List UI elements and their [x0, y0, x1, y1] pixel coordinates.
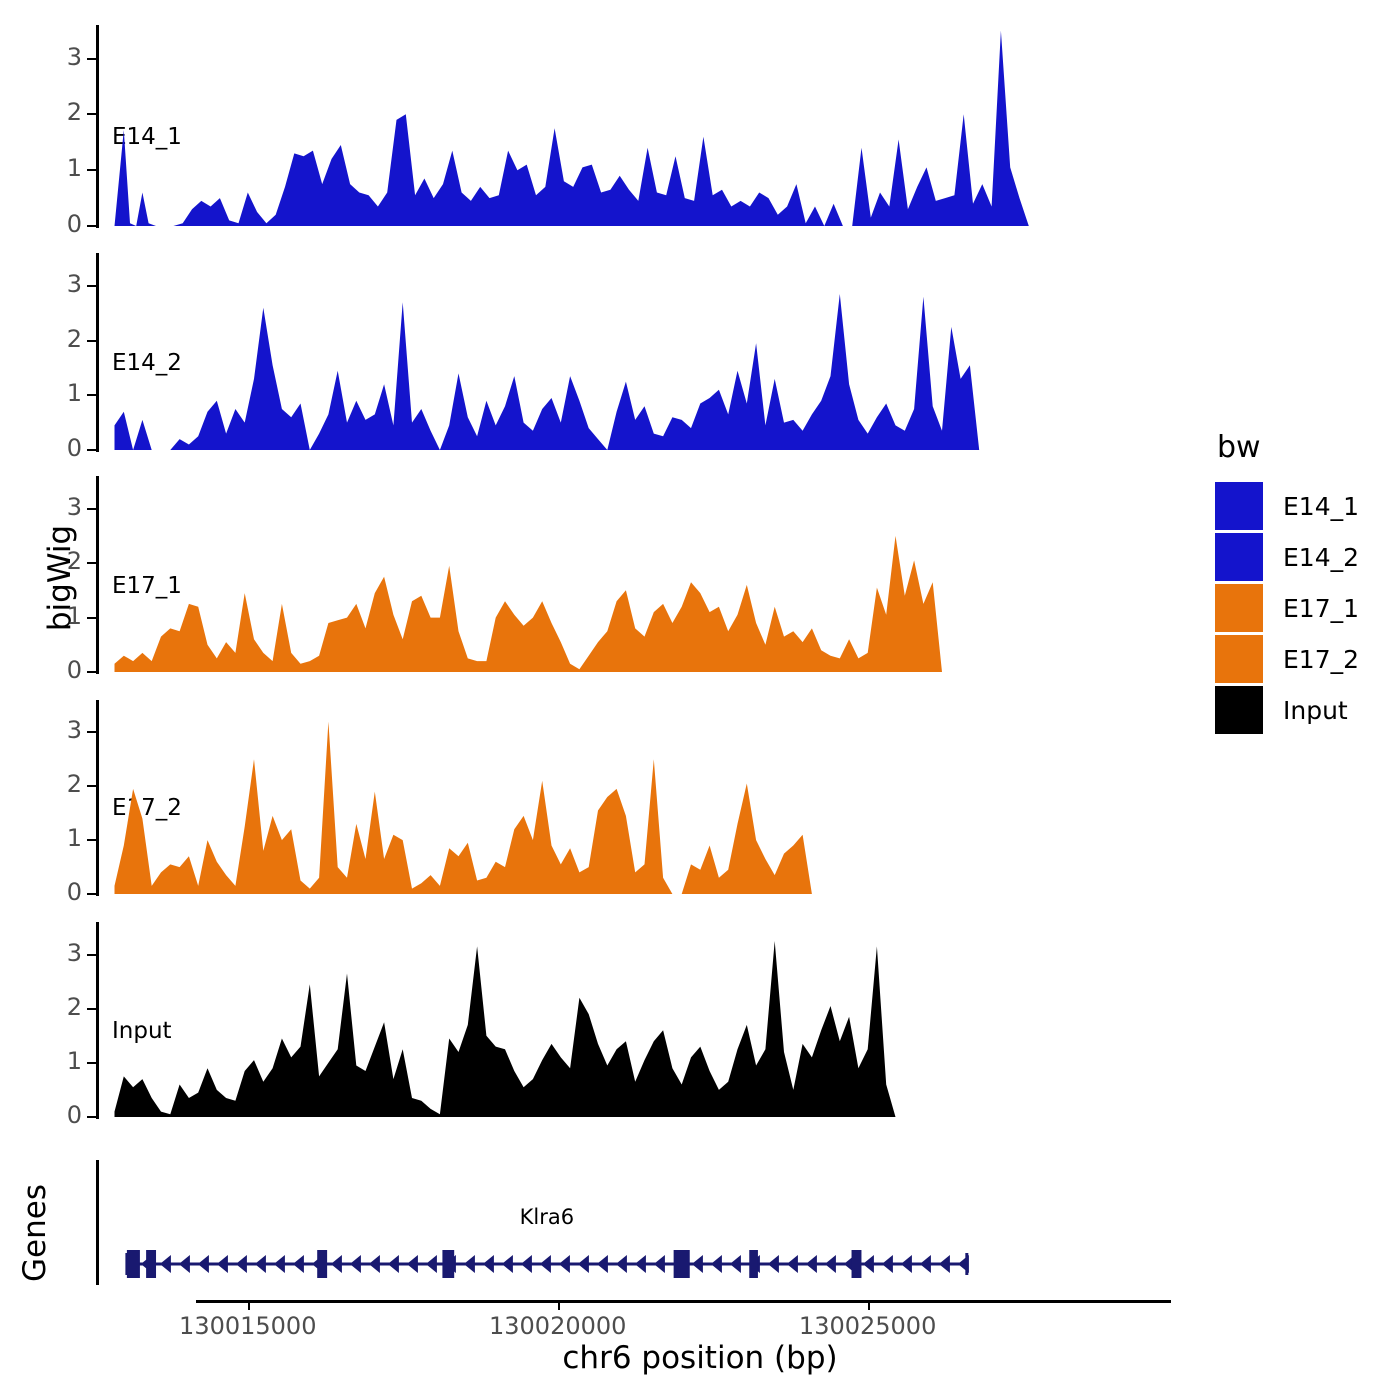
genes-axis-line	[96, 1160, 99, 1285]
legend-label: E14_1	[1283, 492, 1359, 521]
legend-label: E17_1	[1283, 594, 1359, 623]
y-tick-label: 0	[42, 656, 82, 684]
y-axis-line	[96, 25, 99, 228]
legend-item-e17_2[interactable]: E17_2	[1215, 634, 1395, 684]
y-axis-line	[96, 476, 99, 674]
y-tick	[87, 340, 96, 342]
y-tick	[87, 1062, 96, 1064]
signal-area-e14_2	[0, 0, 1400, 1400]
y-tick-label: 3	[42, 939, 82, 967]
legend-label: E17_2	[1283, 645, 1359, 674]
y-tick	[87, 617, 96, 619]
y-tick	[87, 562, 96, 564]
legend-label: Input	[1283, 696, 1348, 725]
y-tick-label: 2	[42, 325, 82, 353]
y-tick-label: 2	[42, 770, 82, 798]
y-tick-label: 1	[42, 154, 82, 182]
y-tick	[87, 893, 96, 895]
x-tick-label: 130025000	[758, 1312, 978, 1340]
legend-swatch-icon	[1215, 635, 1263, 683]
x-tick-label: 130015000	[138, 1312, 358, 1340]
y-tick-label: 3	[42, 43, 82, 71]
y-tick	[87, 785, 96, 787]
signal-area-e17_1	[0, 0, 1400, 1400]
y-tick	[87, 508, 96, 510]
legend-item-input[interactable]: Input	[1215, 685, 1395, 735]
track-label-e17_1: E17_1	[112, 573, 182, 599]
gene-name-label: Klra6	[447, 1205, 647, 1229]
y-axis-line	[96, 700, 99, 896]
legend: bw E14_1E14_2E17_1E17_2Input	[1215, 430, 1395, 736]
y-tick-label: 3	[42, 493, 82, 521]
y-tick	[87, 1116, 96, 1118]
x-tick	[248, 1300, 250, 1310]
y-tick-label: 1	[42, 824, 82, 852]
y-tick	[87, 731, 96, 733]
y-tick	[87, 58, 96, 60]
legend-item-e14_1[interactable]: E14_1	[1215, 481, 1395, 531]
track-label-input: Input	[112, 1018, 172, 1044]
x-tick	[868, 1300, 870, 1310]
y-tick	[87, 954, 96, 956]
y-tick	[87, 671, 96, 673]
legend-swatch-icon	[1215, 584, 1263, 632]
y-tick-label: 1	[42, 1047, 82, 1075]
y-tick-label: 0	[42, 210, 82, 238]
y-tick	[87, 449, 96, 451]
legend-item-e17_1[interactable]: E17_1	[1215, 583, 1395, 633]
y-tick	[87, 394, 96, 396]
y-tick	[87, 285, 96, 287]
y-tick-label: 2	[42, 98, 82, 126]
y-tick-label: 3	[42, 716, 82, 744]
track-label-e14_1: E14_1	[112, 124, 182, 150]
y-tick-label: 0	[42, 1101, 82, 1129]
y-tick-label: 2	[42, 993, 82, 1021]
y-axis-line	[96, 922, 99, 1119]
y-tick	[87, 169, 96, 171]
legend-items: E14_1E14_2E17_1E17_2Input	[1215, 481, 1395, 735]
x-axis-title: chr6 position (bp)	[300, 1340, 1100, 1376]
x-axis-line	[196, 1300, 1171, 1303]
y-tick	[87, 225, 96, 227]
y-tick	[87, 113, 96, 115]
legend-title: bw	[1217, 430, 1395, 465]
signal-area-e17_2	[0, 0, 1400, 1400]
signal-area-e14_1	[0, 0, 1400, 1400]
y-tick	[87, 1008, 96, 1010]
y-tick-label: 2	[42, 547, 82, 575]
y-tick-label: 1	[42, 379, 82, 407]
track-label-e14_2: E14_2	[112, 350, 182, 376]
signal-area-input	[0, 0, 1400, 1400]
y-tick-label: 0	[42, 434, 82, 462]
legend-swatch-icon	[1215, 482, 1263, 530]
y-tick-label: 0	[42, 878, 82, 906]
x-tick-label: 130020000	[448, 1312, 668, 1340]
gene-model-track	[0, 0, 1400, 1400]
legend-label: E14_2	[1283, 543, 1359, 572]
y-axis-line	[96, 253, 99, 452]
legend-swatch-icon	[1215, 533, 1263, 581]
y-tick-label: 1	[42, 602, 82, 630]
legend-item-e14_2[interactable]: E14_2	[1215, 532, 1395, 582]
y-tick-label: 3	[42, 270, 82, 298]
genes-axis-title: Genes	[17, 1143, 53, 1323]
y-tick	[87, 839, 96, 841]
x-tick	[558, 1300, 560, 1310]
legend-swatch-icon	[1215, 686, 1263, 734]
track-label-e17_2: E17_2	[112, 795, 182, 821]
